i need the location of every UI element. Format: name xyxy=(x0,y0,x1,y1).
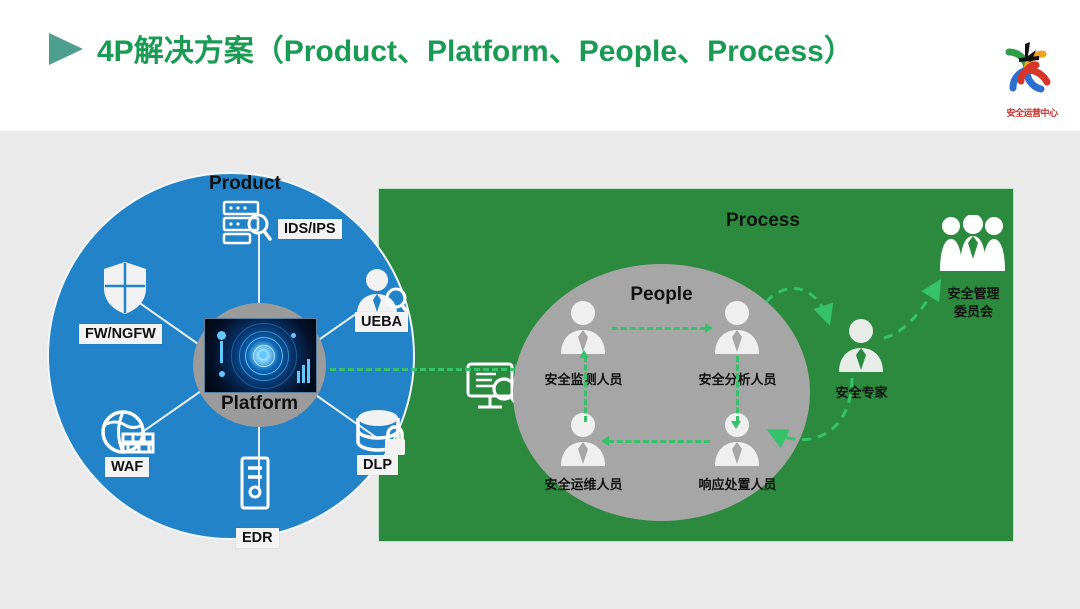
database-lock-icon xyxy=(354,408,410,462)
flow-operations-to-monitoring xyxy=(584,356,587,422)
group-of-people-icon xyxy=(938,215,1008,273)
committee-label-line2: 委员会 xyxy=(926,301,1021,320)
committee-label-line1: 安全管理 xyxy=(926,283,1021,302)
person-icon xyxy=(560,412,606,468)
flow-response-to-operations xyxy=(608,440,710,443)
role-label-incident-response: 响应处置人员 xyxy=(685,474,790,493)
flow-monitoring-to-analysis-arrowhead xyxy=(705,323,713,333)
play-triangle-icon xyxy=(49,33,83,65)
platform-label: Platform xyxy=(193,393,326,415)
page-title: 4P解决方案（Product、Platform、People、Process） xyxy=(97,26,854,70)
flow-analysis-to-response-arrowhead xyxy=(731,421,741,429)
server-rack-magnifier-icon xyxy=(222,200,274,246)
flow-monitoring-to-analysis xyxy=(612,327,706,330)
chip-fw-ngfw[interactable]: FW/NGFW xyxy=(79,324,162,344)
desktop-tower-icon xyxy=(236,456,274,512)
person-magnifier-icon xyxy=(355,268,409,318)
flow-operations-to-monitoring-arrowhead xyxy=(579,350,589,358)
security-operations-center-logo: 安全运营中心 xyxy=(995,24,1069,124)
people-label: People xyxy=(513,284,810,306)
process-label: Process xyxy=(726,210,800,232)
person-icon xyxy=(560,300,606,356)
globe-firewall-icon xyxy=(99,410,157,462)
chip-edr[interactable]: EDR xyxy=(236,528,279,548)
chip-waf[interactable]: WAF xyxy=(105,457,149,477)
flow-analysis-to-response xyxy=(736,356,739,422)
shield-icon xyxy=(101,260,149,316)
product-label: Product xyxy=(209,173,281,195)
chip-ueba[interactable]: UEBA xyxy=(355,312,408,332)
chip-dlp[interactable]: DLP xyxy=(357,455,398,475)
expert-label: 安全专家 xyxy=(824,382,899,401)
flow-platform-to-monitor xyxy=(330,368,516,371)
person-icon xyxy=(838,318,884,374)
role-label-security-operations: 安全运维人员 xyxy=(531,474,636,493)
logo-caption: 安全运营中心 xyxy=(995,106,1069,119)
chip-ids-ips[interactable]: IDS/IPS xyxy=(278,219,342,239)
colorful-pinwheel-icon xyxy=(995,38,1059,102)
person-icon xyxy=(714,300,760,356)
tech-dashboard-icon xyxy=(204,318,317,393)
flow-response-to-operations-arrowhead xyxy=(601,436,609,446)
slide-canvas: 4P解决方案（Product、Platform、People、Process） … xyxy=(0,0,1080,609)
